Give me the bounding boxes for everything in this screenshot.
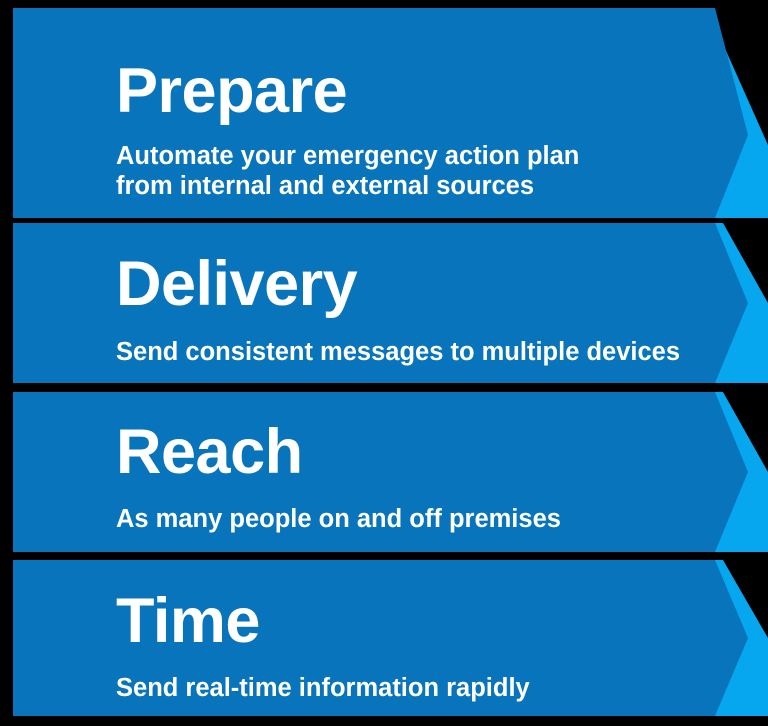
step-title-prepare: Prepare — [116, 60, 579, 123]
step-subtitle-delivery: Send consistent messages to multiple dev… — [116, 337, 680, 367]
step-title-time: Time — [116, 590, 530, 653]
process-step-delivery[interactable]: Delivery Send consistent messages to mul… — [0, 223, 768, 383]
step-content-time: Time Send real-time information rapidly — [116, 590, 530, 703]
step-content-reach: Reach As many people on and off premises — [116, 421, 561, 534]
process-step-prepare[interactable]: Prepare Automate your emergency action p… — [0, 8, 768, 218]
step-title-reach: Reach — [116, 421, 561, 484]
process-step-reach[interactable]: Reach As many people on and off premises — [0, 392, 768, 552]
step-title-delivery: Delivery — [116, 253, 680, 316]
chevron-process-infographic: Prepare Automate your emergency action p… — [0, 0, 768, 726]
step-subtitle-time: Send real-time information rapidly — [116, 673, 530, 703]
step-subtitle-reach: As many people on and off premises — [116, 504, 561, 534]
step-content-delivery: Delivery Send consistent messages to mul… — [116, 253, 680, 367]
step-content-prepare: Prepare Automate your emergency action p… — [116, 60, 579, 201]
step-subtitle-prepare: Automate your emergency action plan from… — [116, 141, 579, 201]
process-step-time[interactable]: Time Send real-time information rapidly — [0, 560, 768, 716]
